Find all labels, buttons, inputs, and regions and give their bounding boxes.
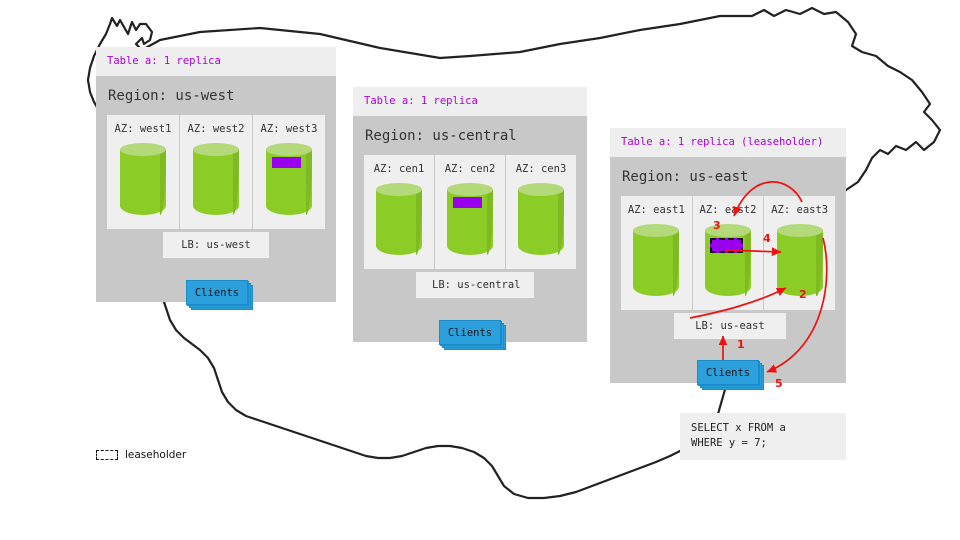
az-label: AZ: west1 (115, 123, 172, 135)
az-cen3[interactable]: AZ: cen3 (505, 155, 576, 269)
region-header-us-central: Table a: 1 replica (353, 87, 587, 116)
az-label: AZ: cen3 (516, 163, 567, 175)
az-east1[interactable]: AZ: east1 (621, 196, 692, 310)
az-cen2[interactable]: AZ: cen2 (434, 155, 505, 269)
legend-label: leaseholder (125, 449, 186, 461)
flow-step-number-2: 2 (799, 288, 807, 301)
replica-marker-west3 (272, 157, 301, 168)
flow-step-number-1: 1 (737, 338, 745, 351)
clients-stack-us-east[interactable]: Clients (697, 360, 763, 388)
flow-step-number-3: 3 (713, 219, 721, 232)
clients-stack-us-west[interactable]: Clients (186, 280, 252, 308)
leaseholder-dashed-swatch-icon (96, 450, 118, 460)
node-cylinder-east3 (777, 224, 823, 296)
az-label: AZ: cen2 (445, 163, 496, 175)
region-title-us-central: Region: us-central (364, 116, 576, 155)
az-row-us-west: AZ: west1 AZ: west2 AZ (107, 115, 325, 229)
az-label: AZ: east2 (700, 204, 757, 216)
clients-stack-us-central[interactable]: Clients (439, 320, 505, 348)
region-panel-us-west: Table a: 1 replica Region: us-west AZ: w… (96, 47, 336, 302)
region-header-us-west: Table a: 1 replica (96, 47, 336, 76)
az-east2[interactable]: AZ: east2 (692, 196, 764, 310)
region-panel-us-east: Table a: 1 replica (leaseholder) Region:… (610, 128, 846, 383)
diagram-canvas: Table a: 1 replica Region: us-west AZ: w… (0, 0, 960, 540)
az-label: AZ: west2 (188, 123, 245, 135)
node-cylinder-cen1 (376, 183, 422, 255)
az-west2[interactable]: AZ: west2 (179, 115, 252, 229)
sql-query-box: SELECT x FROM a WHERE y = 7; (680, 413, 846, 460)
flow-step-number-4: 4 (763, 232, 771, 245)
replica-marker-cen2 (453, 197, 482, 208)
replica-marker-east2-leaseholder (710, 238, 743, 253)
node-cylinder-east1 (633, 224, 679, 296)
load-balancer-us-west[interactable]: LB: us-west (163, 232, 269, 258)
node-cylinder-west2 (193, 143, 239, 215)
load-balancer-us-central[interactable]: LB: us-central (416, 272, 534, 298)
az-label: AZ: cen1 (374, 163, 425, 175)
az-west3[interactable]: AZ: west3 (252, 115, 325, 229)
region-title-us-east: Region: us-east (621, 157, 835, 196)
node-cylinder-east2 (705, 224, 751, 296)
node-cylinder-west3 (266, 143, 312, 215)
az-west1[interactable]: AZ: west1 (107, 115, 179, 229)
load-balancer-us-east[interactable]: LB: us-east (674, 313, 786, 339)
region-panel-us-central: Table a: 1 replica Region: us-central AZ… (353, 87, 587, 342)
clients-label: Clients (697, 360, 759, 385)
flow-step-number-5: 5 (775, 377, 783, 390)
legend-leaseholder: leaseholder (96, 449, 186, 461)
region-title-us-west: Region: us-west (107, 76, 325, 115)
az-label: AZ: east3 (771, 204, 828, 216)
az-label: AZ: east1 (628, 204, 685, 216)
node-cylinder-cen3 (518, 183, 564, 255)
node-cylinder-cen2 (447, 183, 493, 255)
node-cylinder-west1 (120, 143, 166, 215)
clients-label: Clients (439, 320, 501, 345)
region-header-us-east: Table a: 1 replica (leaseholder) (610, 128, 846, 157)
clients-label: Clients (186, 280, 248, 305)
az-cen1[interactable]: AZ: cen1 (364, 155, 434, 269)
az-label: AZ: west3 (261, 123, 318, 135)
az-row-us-central: AZ: cen1 AZ: cen2 (364, 155, 576, 269)
